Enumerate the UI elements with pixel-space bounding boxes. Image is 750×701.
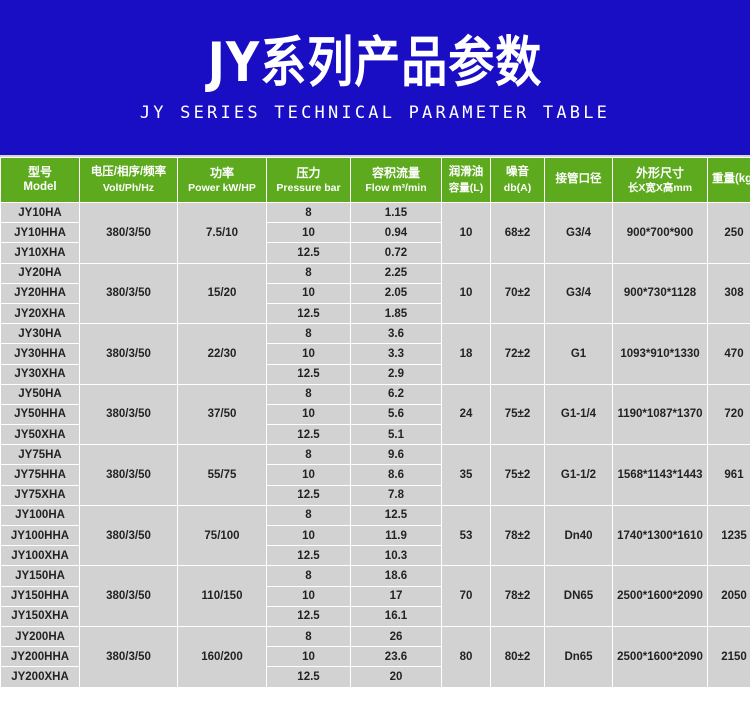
cell-noise: 75±2: [491, 385, 544, 445]
cell-power: 110/150: [178, 566, 266, 626]
cell-model: JY150HHA: [1, 587, 79, 606]
cell-pressure: 8: [267, 566, 350, 585]
table-row: JY100HA380/3/5075/100812.55378±2Dn401740…: [1, 506, 750, 525]
cell-pressure: 10: [267, 647, 350, 666]
cell-model: JY10HA: [1, 203, 79, 222]
cell-weight: 2150: [708, 627, 750, 687]
cell-pressure: 12.5: [267, 365, 350, 384]
col-header-noise-cn: 噪音: [492, 165, 543, 181]
cell-oil-capacity: 24: [442, 385, 490, 445]
col-header-power-en: Power kW/HP: [179, 181, 265, 195]
col-header-voltage-cn: 电压/相序/频率: [81, 165, 176, 181]
cell-flow: 20: [351, 667, 441, 686]
cell-oil-capacity: 53: [442, 506, 490, 566]
cell-flow: 18.6: [351, 566, 441, 585]
cell-pressure: 10: [267, 344, 350, 363]
cell-flow: 8.6: [351, 465, 441, 484]
product-spec-page: JY系列产品参数 JY SERIES TECHNICAL PARAMETER T…: [0, 0, 750, 701]
cell-flow: 5.6: [351, 405, 441, 424]
cell-pressure: 8: [267, 506, 350, 525]
col-header-voltage: 电压/相序/频率 Volt/Ph/Hz: [80, 158, 177, 202]
cell-power: 7.5/10: [178, 203, 266, 263]
cell-dimensions: 900*700*900: [613, 203, 707, 263]
table-row: JY10HA380/3/507.5/1081.151068±2G3/4900*7…: [1, 203, 750, 222]
cell-flow: 17: [351, 587, 441, 606]
cell-model: JY75HHA: [1, 465, 79, 484]
cell-model: JY30XHA: [1, 365, 79, 384]
cell-pipe-diameter: G1: [545, 324, 612, 384]
cell-voltage: 380/3/50: [80, 324, 177, 384]
spec-table-header: 型号 Model 电压/相序/频率 Volt/Ph/Hz 功率 Power kW…: [1, 158, 750, 202]
cell-flow: 3.6: [351, 324, 441, 343]
cell-dimensions: 1740*1300*1610: [613, 506, 707, 566]
table-row: JY50HA380/3/5037/5086.22475±2G1-1/41190*…: [1, 385, 750, 404]
cell-noise: 70±2: [491, 264, 544, 324]
cell-flow: 16.1: [351, 607, 441, 626]
col-header-weight: 重量(kg): [708, 158, 750, 202]
cell-voltage: 380/3/50: [80, 385, 177, 445]
cell-noise: 78±2: [491, 506, 544, 566]
cell-dimensions: 900*730*1128: [613, 264, 707, 324]
cell-pressure: 10: [267, 284, 350, 303]
cell-pipe-diameter: G3/4: [545, 203, 612, 263]
cell-voltage: 380/3/50: [80, 264, 177, 324]
col-header-dimensions: 外形尺寸 长X宽X高mm: [613, 158, 707, 202]
cell-model: JY20HHA: [1, 284, 79, 303]
cell-pressure: 8: [267, 385, 350, 404]
cell-flow: 26: [351, 627, 441, 646]
table-row: JY30HA380/3/5022/3083.61872±2G11093*910*…: [1, 324, 750, 343]
cell-power: 22/30: [178, 324, 266, 384]
cell-oil-capacity: 70: [442, 566, 490, 626]
cell-flow: 11.9: [351, 526, 441, 545]
cell-oil-capacity: 10: [442, 203, 490, 263]
cell-oil-capacity: 35: [442, 445, 490, 505]
cell-model: JY150HA: [1, 566, 79, 585]
cell-pressure: 12.5: [267, 486, 350, 505]
cell-model: JY50XHA: [1, 425, 79, 444]
cell-flow: 6.2: [351, 385, 441, 404]
cell-pressure: 8: [267, 445, 350, 464]
cell-model: JY20HA: [1, 264, 79, 283]
cell-pipe-diameter: Dn40: [545, 506, 612, 566]
spec-table-body: JY10HA380/3/507.5/1081.151068±2G3/4900*7…: [1, 203, 750, 687]
cell-flow: 12.5: [351, 506, 441, 525]
cell-model: JY100HA: [1, 506, 79, 525]
cell-voltage: 380/3/50: [80, 203, 177, 263]
cell-model: JY200HHA: [1, 647, 79, 666]
cell-noise: 80±2: [491, 627, 544, 687]
col-header-noise-unit: db(A): [492, 181, 543, 195]
cell-flow: 5.1: [351, 425, 441, 444]
col-header-flow-cn: 容积流量: [352, 165, 440, 181]
cell-model: JY75XHA: [1, 486, 79, 505]
cell-pressure: 10: [267, 526, 350, 545]
cell-model: JY200XHA: [1, 667, 79, 686]
cell-dimensions: 2500*1600*2090: [613, 566, 707, 626]
cell-flow: 23.6: [351, 647, 441, 666]
cell-pressure: 12.5: [267, 243, 350, 262]
footer-note: 我司有不断改进产品之权利，参数变化恕不另行通知: [0, 688, 750, 701]
cell-weight: 1235: [708, 506, 750, 566]
cell-model: JY30HHA: [1, 344, 79, 363]
cell-dimensions: 1190*1087*1370: [613, 385, 707, 445]
cell-power: 55/75: [178, 445, 266, 505]
table-row: JY150HA380/3/50110/150818.67078±2DN65250…: [1, 566, 750, 585]
cell-pipe-diameter: G1-1/4: [545, 385, 612, 445]
cell-dimensions: 1093*910*1330: [613, 324, 707, 384]
cell-model: JY100XHA: [1, 546, 79, 565]
col-header-power-cn: 功率: [179, 165, 265, 181]
cell-power: 75/100: [178, 506, 266, 566]
page-banner: JY系列产品参数 JY SERIES TECHNICAL PARAMETER T…: [0, 0, 750, 155]
cell-pipe-diameter: DN65: [545, 566, 612, 626]
cell-flow: 1.85: [351, 304, 441, 323]
cell-flow: 1.15: [351, 203, 441, 222]
cell-flow: 2.05: [351, 284, 441, 303]
cell-power: 160/200: [178, 627, 266, 687]
cell-noise: 68±2: [491, 203, 544, 263]
cell-flow: 2.25: [351, 264, 441, 283]
cell-flow: 2.9: [351, 365, 441, 384]
cell-weight: 2050: [708, 566, 750, 626]
cell-weight: 470: [708, 324, 750, 384]
cell-noise: 78±2: [491, 566, 544, 626]
banner-subtitle-en: JY SERIES TECHNICAL PARAMETER TABLE: [140, 103, 610, 123]
col-header-model: 型号 Model: [1, 158, 79, 202]
cell-flow: 0.72: [351, 243, 441, 262]
banner-title-cn: JY系列产品参数: [208, 34, 542, 88]
col-header-voltage-en: Volt/Ph/Hz: [81, 181, 176, 195]
cell-model: JY10HHA: [1, 223, 79, 242]
spec-table: 型号 Model 电压/相序/频率 Volt/Ph/Hz 功率 Power kW…: [0, 157, 750, 688]
cell-pressure: 8: [267, 324, 350, 343]
cell-pressure: 10: [267, 405, 350, 424]
cell-weight: 720: [708, 385, 750, 445]
col-header-pipe: 接管口径: [545, 158, 612, 202]
cell-model: JY200HA: [1, 627, 79, 646]
cell-pipe-diameter: G1-1/2: [545, 445, 612, 505]
col-header-pressure-cn: 压力: [268, 165, 349, 181]
cell-pressure: 10: [267, 587, 350, 606]
cell-weight: 308: [708, 264, 750, 324]
col-header-pressure-en: Pressure bar: [268, 181, 349, 195]
cell-power: 37/50: [178, 385, 266, 445]
col-header-noise: 噪音 db(A): [491, 158, 544, 202]
col-header-dimensions-cn: 外形尺寸: [614, 165, 706, 181]
cell-weight: 961: [708, 445, 750, 505]
col-header-dimensions-unit: 长X宽X高mm: [614, 181, 706, 195]
col-header-pipe-cn: 接管口径: [546, 172, 611, 188]
cell-model: JY10XHA: [1, 243, 79, 262]
cell-oil-capacity: 18: [442, 324, 490, 384]
col-header-oil: 润滑油 容量(L): [442, 158, 490, 202]
cell-pressure: 8: [267, 264, 350, 283]
col-header-flow-en: Flow m³/min: [352, 181, 440, 195]
cell-pressure: 12.5: [267, 425, 350, 444]
cell-dimensions: 2500*1600*2090: [613, 627, 707, 687]
cell-voltage: 380/3/50: [80, 506, 177, 566]
cell-noise: 72±2: [491, 324, 544, 384]
table-row: JY75HA380/3/5055/7589.63575±2G1-1/21568*…: [1, 445, 750, 464]
cell-model: JY20XHA: [1, 304, 79, 323]
cell-flow: 9.6: [351, 445, 441, 464]
cell-weight: 250: [708, 203, 750, 263]
cell-pressure: 12.5: [267, 546, 350, 565]
table-row: JY200HA380/3/50160/2008268080±2Dn652500*…: [1, 627, 750, 646]
cell-model: JY50HHA: [1, 405, 79, 424]
col-header-model-cn: 型号: [2, 164, 78, 180]
col-header-power: 功率 Power kW/HP: [178, 158, 266, 202]
cell-pipe-diameter: G3/4: [545, 264, 612, 324]
table-row: JY20HA380/3/5015/2082.251070±2G3/4900*73…: [1, 264, 750, 283]
cell-flow: 10.3: [351, 546, 441, 565]
cell-flow: 3.3: [351, 344, 441, 363]
cell-pressure: 10: [267, 223, 350, 242]
cell-pressure: 12.5: [267, 607, 350, 626]
cell-model: JY150XHA: [1, 607, 79, 626]
col-header-model-en: Model: [2, 180, 78, 196]
cell-power: 15/20: [178, 264, 266, 324]
cell-voltage: 380/3/50: [80, 627, 177, 687]
cell-oil-capacity: 80: [442, 627, 490, 687]
cell-model: JY30HA: [1, 324, 79, 343]
cell-model: JY75HA: [1, 445, 79, 464]
cell-pressure: 12.5: [267, 667, 350, 686]
cell-pressure: 8: [267, 627, 350, 646]
cell-flow: 7.8: [351, 486, 441, 505]
col-header-pressure: 压力 Pressure bar: [267, 158, 350, 202]
cell-voltage: 380/3/50: [80, 445, 177, 505]
cell-pipe-diameter: Dn65: [545, 627, 612, 687]
spec-table-wrapper: 型号 Model 电压/相序/频率 Volt/Ph/Hz 功率 Power kW…: [0, 157, 750, 688]
cell-noise: 75±2: [491, 445, 544, 505]
col-header-weight-cn: 重量(kg): [709, 172, 750, 188]
col-header-oil-cn: 润滑油: [443, 165, 489, 181]
cell-dimensions: 1568*1143*1443: [613, 445, 707, 505]
col-header-oil-unit: 容量(L): [443, 181, 489, 195]
header-row: 型号 Model 电压/相序/频率 Volt/Ph/Hz 功率 Power kW…: [1, 158, 750, 202]
cell-model: JY100HHA: [1, 526, 79, 545]
cell-flow: 0.94: [351, 223, 441, 242]
col-header-flow: 容积流量 Flow m³/min: [351, 158, 441, 202]
cell-pressure: 12.5: [267, 304, 350, 323]
cell-model: JY50HA: [1, 385, 79, 404]
cell-oil-capacity: 10: [442, 264, 490, 324]
cell-pressure: 8: [267, 203, 350, 222]
cell-voltage: 380/3/50: [80, 566, 177, 626]
cell-pressure: 10: [267, 465, 350, 484]
